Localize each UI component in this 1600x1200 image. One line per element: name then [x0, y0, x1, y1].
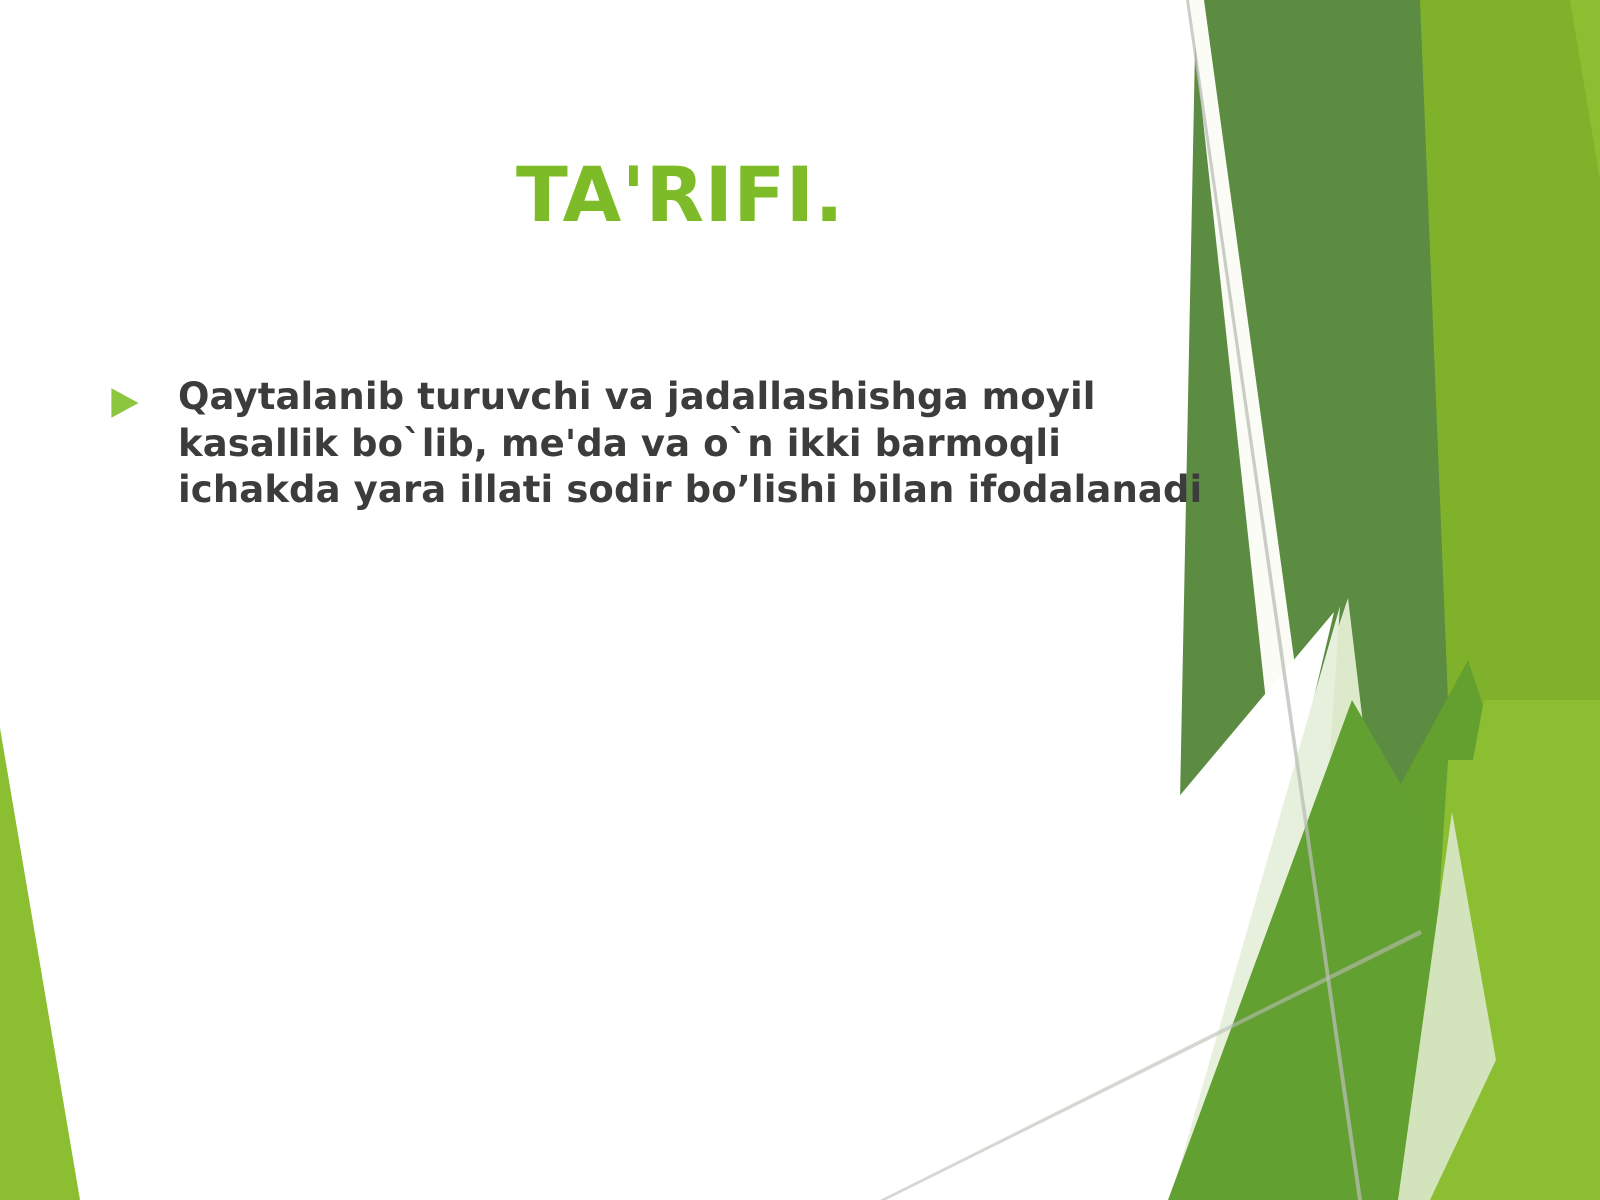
art-shape-light-green-wedge: [1148, 598, 1420, 1200]
slide-canvas: TA'RIFI. Qaytalanib turuvchi va jadallas…: [0, 0, 1600, 1200]
slide-body-container: Qaytalanib turuvchi va jadallashishga mo…: [108, 374, 1228, 514]
art-shape-dark-green-band: [1172, 0, 1468, 1200]
art-shape-light-thin-wedge: [1398, 812, 1496, 1200]
art-shape-soft-pale-triangle: [1170, 606, 1340, 1200]
bullet-item-text: Qaytalanib turuvchi va jadallashishga mo…: [178, 374, 1228, 514]
triangle-right-icon: [108, 386, 142, 420]
art-hairline-bottom-diagonal: [880, 930, 1422, 1200]
art-shape-white-center-triangle: [840, 612, 1334, 1200]
bullet-list-item: Qaytalanib turuvchi va jadallashishga mo…: [108, 374, 1228, 514]
art-shape-bright-lower-right: [1392, 700, 1600, 1200]
slide-title-container: TA'RIFI.: [180, 120, 1180, 270]
art-shape-green-diagonal-wedge: [1176, 660, 1600, 1200]
art-shape-left-bottom-wedge: [0, 728, 80, 1200]
art-shape-pale-sliver: [1190, 0, 1368, 1200]
page-title: TA'RIFI.: [516, 155, 844, 235]
art-shape-right-bright-field: [1108, 0, 1600, 1200]
art-hairline-upper-diagonal: [1186, 0, 1362, 1200]
art-shape-mid-green-band: [1196, 0, 1600, 1200]
art-shape-pale-right-wedge: [1470, 880, 1560, 1200]
art-shape-bottom-right-triangle: [1168, 700, 1600, 1200]
art-shape-bright-bottom-sliver: [1420, 760, 1600, 1200]
